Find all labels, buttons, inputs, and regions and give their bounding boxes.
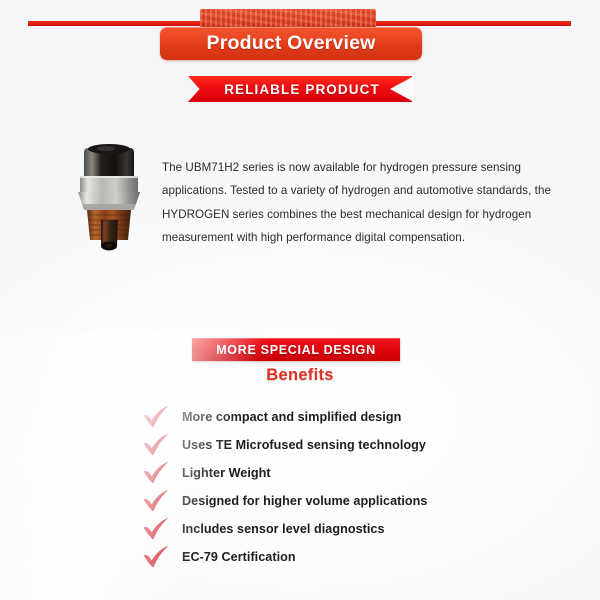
list-item: Includes sensor level diagnostics <box>140 515 560 543</box>
benefit-label: Includes sensor level diagnostics <box>174 522 385 536</box>
benefit-label: Designed for higher volume applications <box>174 494 427 508</box>
list-item: Lighter Weight <box>140 459 560 487</box>
product-overview-page: Product Overview RELIABLE PRODUCT <box>0 0 600 600</box>
red-check-icon <box>140 404 174 430</box>
intro-section: The UBM71H2 series is now available for … <box>0 136 600 261</box>
pressure-sensor-photo <box>68 142 150 254</box>
reliable-product-ribbon: RELIABLE PRODUCT <box>188 76 412 102</box>
more-special-design-label: MORE SPECIAL DESIGN <box>216 343 376 357</box>
red-check-icon <box>140 460 174 486</box>
list-item: Designed for higher volume applications <box>140 487 560 515</box>
reliable-product-label: RELIABLE PRODUCT <box>220 82 380 97</box>
list-item: Uses TE Microfused sensing technology <box>140 431 560 459</box>
textured-tab-icon <box>200 9 376 29</box>
page-title: Product Overview <box>206 32 375 55</box>
benefit-label: More compact and simplified design <box>174 410 401 424</box>
red-check-icon <box>140 544 174 570</box>
intro-paragraph: The UBM71H2 series is now available for … <box>162 156 552 250</box>
red-check-icon <box>140 488 174 514</box>
list-item: EC-79 Certification <box>140 543 560 571</box>
list-item: More compact and simplified design <box>140 403 560 431</box>
red-check-icon <box>140 516 174 542</box>
page-title-button: Product Overview <box>160 27 422 60</box>
benefit-label: Lighter Weight <box>174 466 271 480</box>
benefit-label: EC-79 Certification <box>174 550 296 564</box>
benefits-list: More compact and simplified design Uses … <box>140 403 560 571</box>
benefits-heading: Benefits <box>0 366 600 385</box>
red-check-icon <box>140 432 174 458</box>
more-special-design-banner: MORE SPECIAL DESIGN <box>192 338 400 361</box>
benefit-label: Uses TE Microfused sensing technology <box>174 438 426 452</box>
header: Product Overview RELIABLE PRODUCT <box>0 0 600 112</box>
